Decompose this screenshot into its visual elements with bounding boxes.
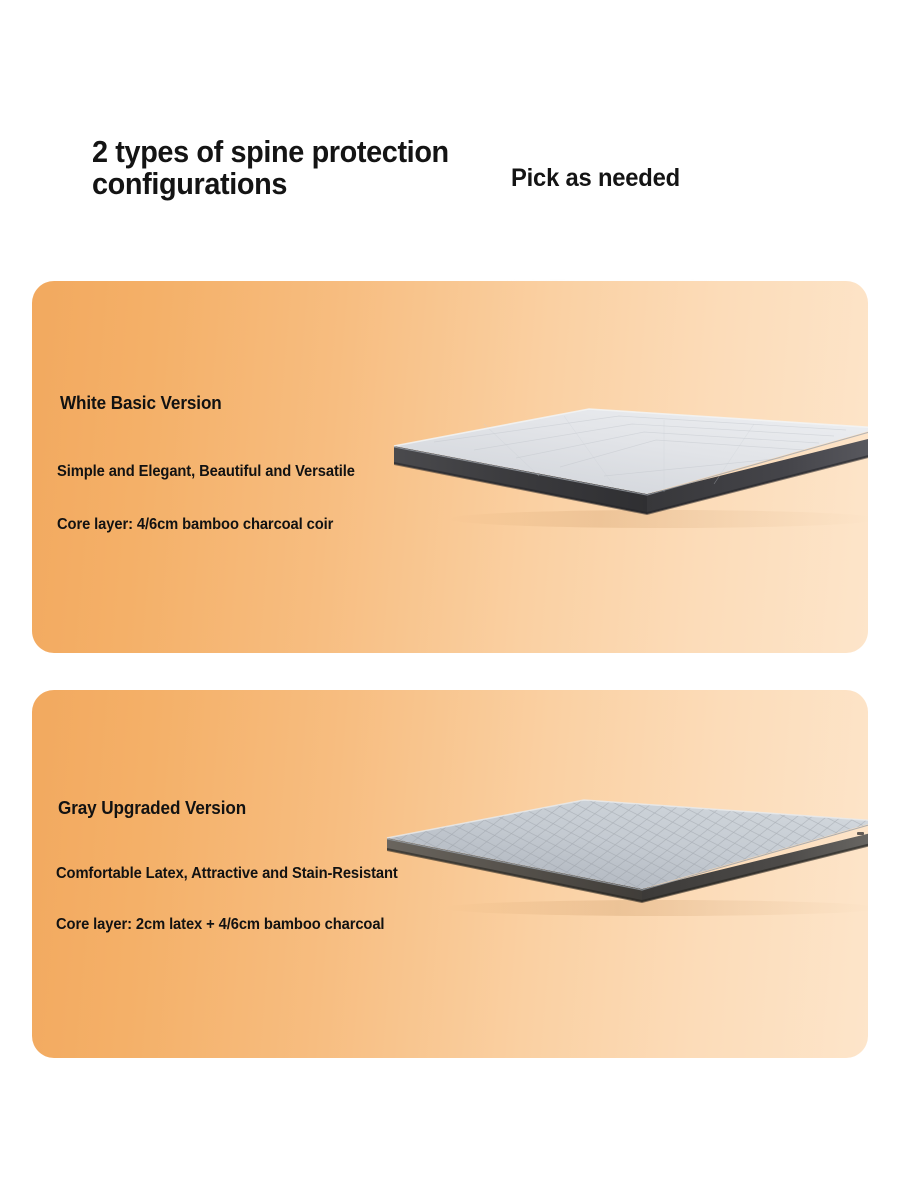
product-card-gray-upgraded[interactable]: Gray Upgraded Version Comfortable Latex,… <box>32 690 868 1058</box>
white-mattress-image <box>364 398 868 533</box>
product-feature-line: Comfortable Latex, Attractive and Stain-… <box>56 865 398 883</box>
product-feature-line: Simple and Elegant, Beautiful and Versat… <box>57 463 355 481</box>
page-subtitle: Pick as needed <box>511 165 680 191</box>
product-title: Gray Upgraded Version <box>58 798 246 819</box>
gray-quilted-mattress-image <box>362 794 868 924</box>
product-core-layer-line: Core layer: 4/6cm bamboo charcoal coir <box>57 516 333 534</box>
product-title: White Basic Version <box>60 393 222 414</box>
product-card-white-basic[interactable]: White Basic Version Simple and Elegant, … <box>32 281 868 653</box>
product-core-layer-line: Core layer: 2cm latex + 4/6cm bamboo cha… <box>56 916 384 934</box>
page-header: 2 types of spine protection configuratio… <box>0 136 900 226</box>
page-title: 2 types of spine protection configuratio… <box>92 136 464 200</box>
